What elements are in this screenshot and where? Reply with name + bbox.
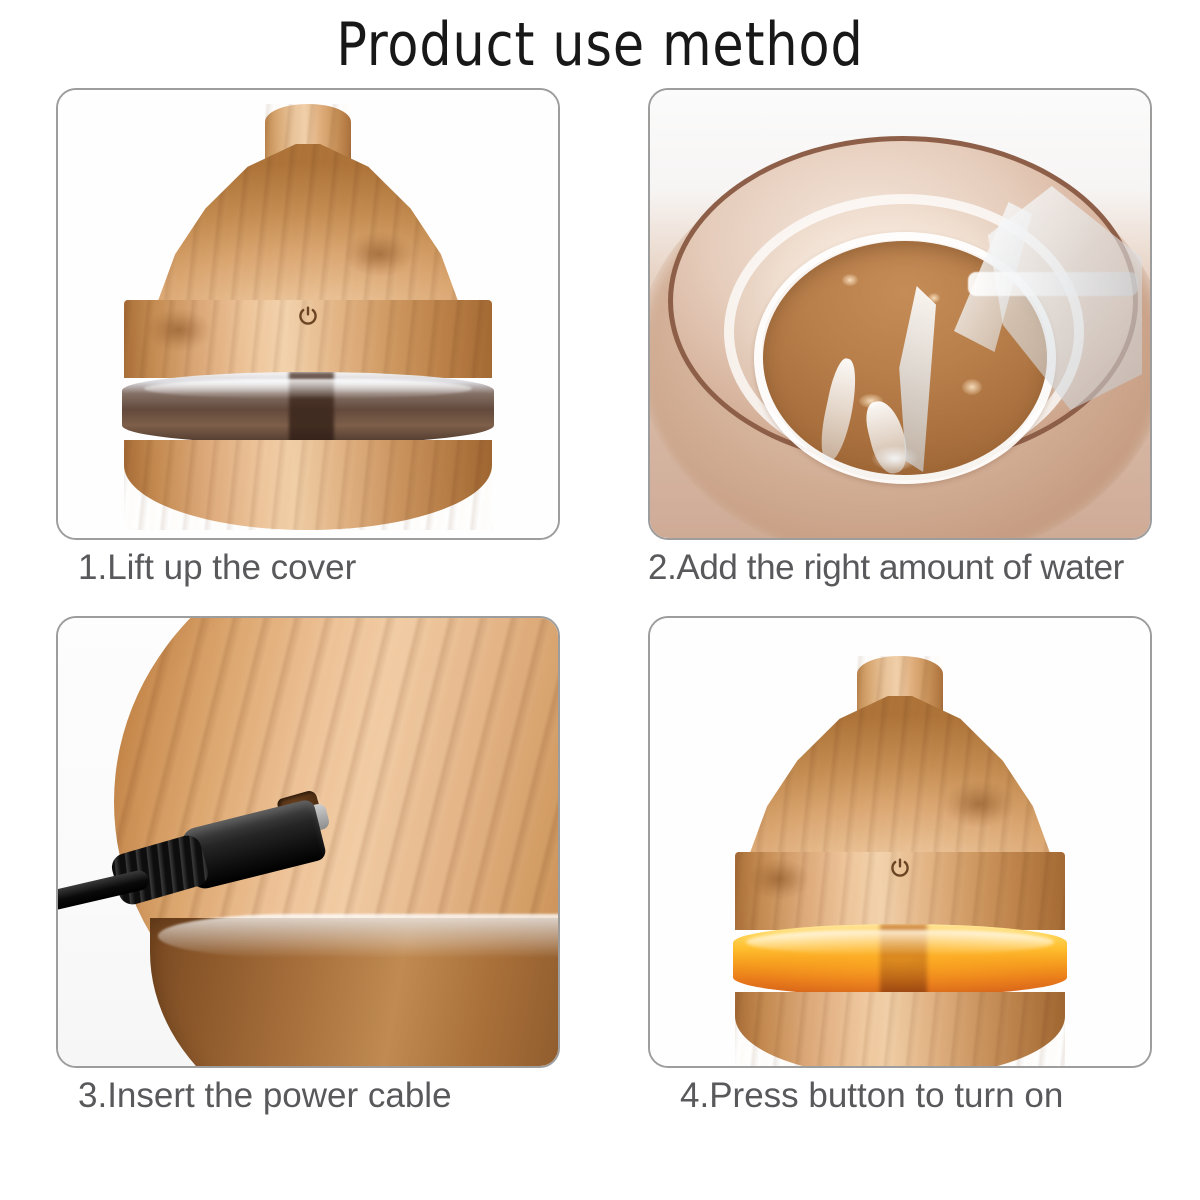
humidifier-led-on-photo bbox=[650, 618, 1150, 1066]
measuring-cup-highlight bbox=[968, 272, 1138, 296]
power-icon[interactable] bbox=[887, 856, 913, 882]
band-center-column bbox=[289, 372, 334, 444]
humidifier-illustration bbox=[124, 104, 492, 524]
step-2-image-frame bbox=[648, 88, 1152, 540]
wood-knot bbox=[344, 231, 414, 277]
humidifier-lower-body bbox=[124, 440, 492, 530]
humidifier-lower-body bbox=[735, 992, 1065, 1068]
step-1: 1.Lift up the cover bbox=[56, 88, 560, 540]
power-icon[interactable] bbox=[295, 304, 321, 330]
step-4-caption: 4.Press button to turn on bbox=[648, 1074, 1168, 1118]
water-pour-photo bbox=[650, 90, 1150, 538]
wood-knot bbox=[748, 858, 810, 900]
step-2-caption: 2.Add the right amount of water bbox=[648, 546, 1168, 590]
step-2: 2.Add the right amount of water bbox=[648, 88, 1152, 540]
power-cable-photo bbox=[58, 618, 558, 1066]
step-4: 4.Press button to turn on bbox=[648, 616, 1152, 1068]
band-surface bbox=[733, 924, 1067, 996]
step-1-caption: 1.Lift up the cover bbox=[56, 546, 576, 590]
step-3-image-frame bbox=[56, 616, 560, 1068]
steps-grid: 1.Lift up the cover bbox=[56, 88, 1152, 1160]
product-instructions-page: Product use method bbox=[0, 0, 1200, 1200]
base-highlight bbox=[158, 914, 560, 958]
band-surface bbox=[122, 372, 494, 444]
humidifier-light-band-on bbox=[733, 924, 1067, 996]
wood-grain-texture bbox=[124, 440, 492, 530]
page-title: Product use method bbox=[36, 6, 1164, 84]
step-1-image-frame bbox=[56, 88, 560, 540]
wood-grain-texture bbox=[735, 992, 1065, 1068]
step-4-image-frame bbox=[648, 616, 1152, 1068]
wood-knot bbox=[942, 780, 1016, 828]
band-center-column bbox=[880, 924, 927, 996]
humidifier-photo-step1 bbox=[58, 90, 558, 538]
wood-knot bbox=[146, 308, 212, 352]
step-3-caption: 3.Insert the power cable bbox=[56, 1074, 576, 1118]
step-3: 3.Insert the power cable bbox=[56, 616, 560, 1068]
humidifier-illustration bbox=[735, 656, 1065, 1046]
humidifier-light-band-off bbox=[122, 372, 494, 444]
